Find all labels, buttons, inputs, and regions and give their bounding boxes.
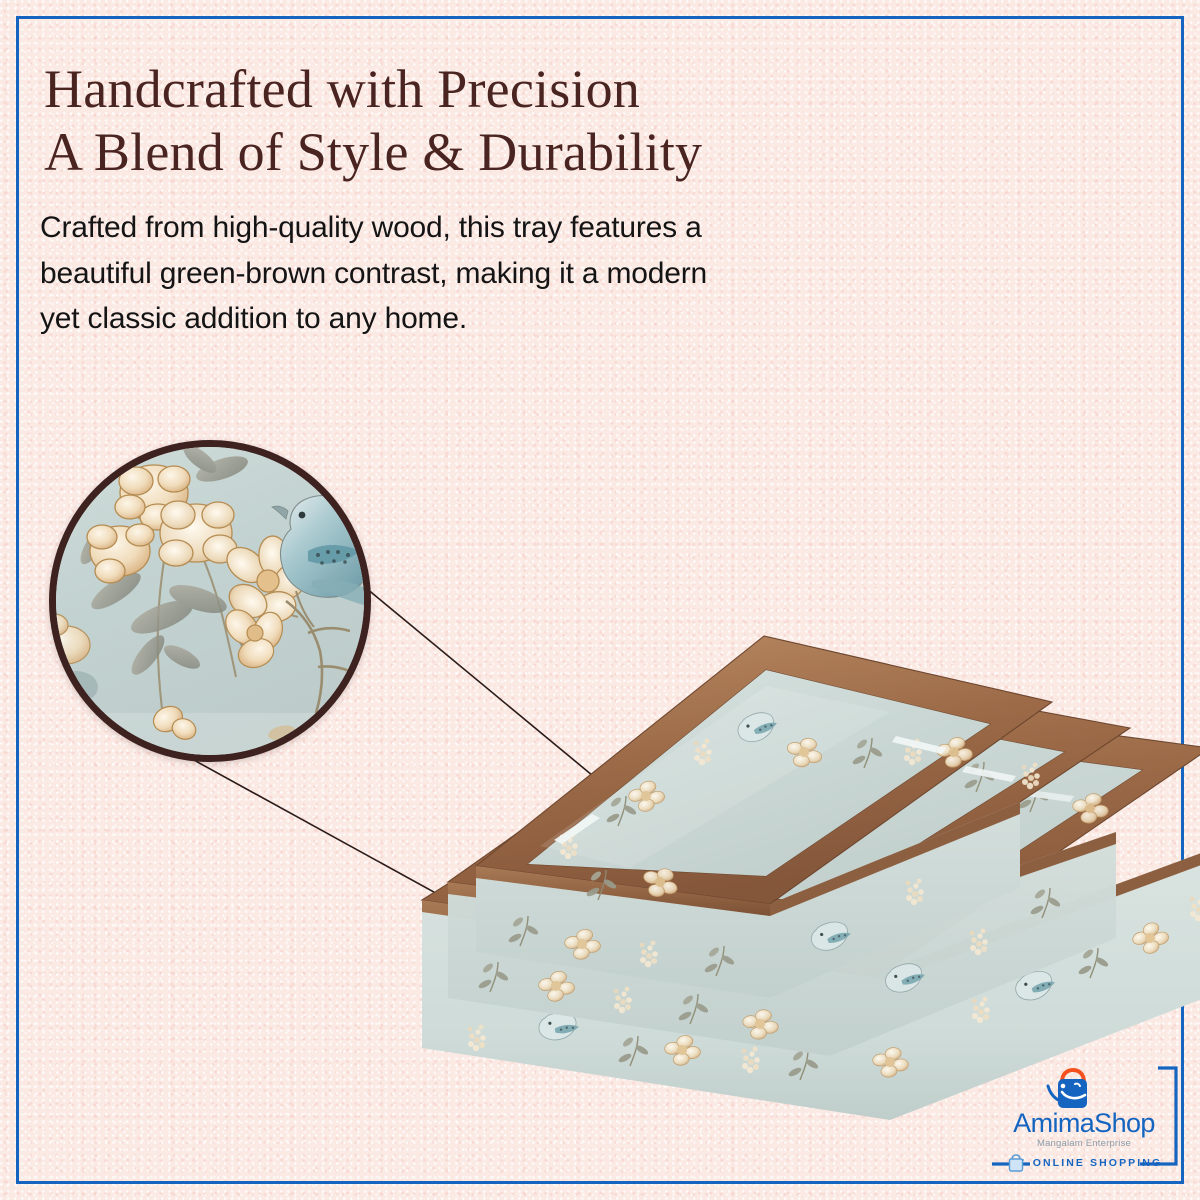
headline-line-1: Handcrafted with Precision: [44, 58, 924, 121]
headline-line-2: A Blend of Style & Durability: [44, 121, 924, 184]
description-line-3: yet classic addition to any home.: [40, 296, 900, 342]
shopping-bag-smiley-icon: [1044, 1068, 1094, 1112]
product-image-tray-set: [330, 600, 1200, 1120]
logo-tagline-row: ONLINE SHOPPING: [990, 1153, 1178, 1173]
brand-logo[interactable]: AmimaShop Mangalam Enterprise ONLINE SHO…: [990, 1066, 1178, 1178]
brand-name: AmimaShop: [990, 1110, 1178, 1137]
product-description: Crafted from high-quality wood, this tra…: [40, 205, 900, 342]
shopping-bag-outline-icon: [1006, 1153, 1026, 1173]
page-title: Handcrafted with Precision A Blend of St…: [44, 58, 924, 183]
brand-sub-name: Mangalam Enterprise: [990, 1138, 1178, 1149]
magnified-pattern-art: [50, 441, 370, 761]
description-line-2: beautiful green-brown contrast, making i…: [40, 251, 900, 297]
pattern-magnifier-circle: [49, 440, 371, 762]
description-line-1: Crafted from high-quality wood, this tra…: [40, 205, 900, 251]
online-shopping-label: ONLINE SHOPPING: [1033, 1157, 1163, 1169]
